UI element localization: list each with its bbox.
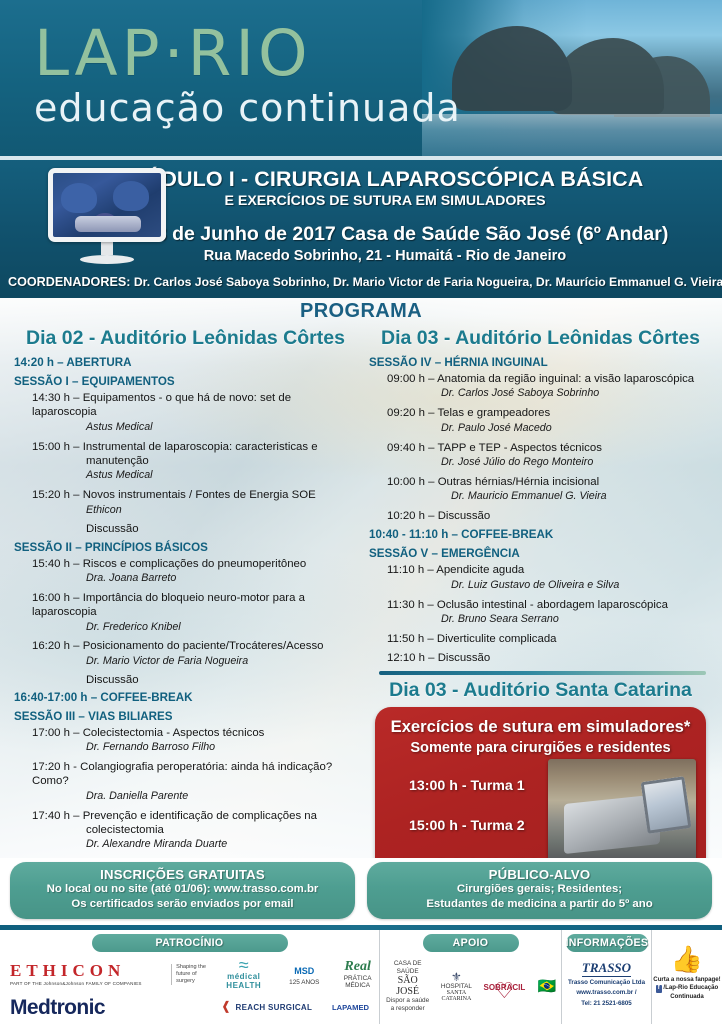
item-speaker: Astus Medical [32, 469, 357, 483]
item-time: 17:20 h - [32, 761, 77, 773]
item-time: 15:20 h – [32, 489, 80, 501]
session-heading: SESSÃO II – PRINCÍPIOS BÁSICOS [14, 541, 357, 554]
program-item: 11:50 h – Diverticulite complicada [369, 632, 712, 646]
facebook-page-name: /Lap-Rio Educação Continuada [663, 984, 718, 1000]
session-heading: SESSÃO III – VIAS BILIARES [14, 710, 357, 723]
registration-heading: INSCRIÇÕES GRATUITAS [18, 867, 347, 882]
day02-column: Dia 02 - Auditório Leônidas Côrtes 14:20… [6, 327, 361, 858]
casa-saude-sao-jose-logo: CASA DE SAÚDE SÃO JOSÉ Dispor a saúde a … [386, 960, 429, 1013]
day03-heading: Dia 03 - Auditório Leônidas Côrtes [369, 327, 712, 350]
brazil-flag-logo: 🇧🇷 [533, 977, 561, 996]
monitor-base [80, 255, 134, 264]
program-item: 11:10 h – Apendicite aguda Dr. Luiz Gust… [369, 563, 712, 592]
apoio-label: APOIO [423, 934, 519, 952]
item-speaker: Dr. José Júlio do Rego Monteiro [387, 456, 712, 470]
item-title: 09:40 h – TAPP e TEP - Aspectos técnicos [387, 441, 712, 455]
item-text: Posicionamento do paciente/Trocáteres/Ac… [83, 640, 324, 652]
item-time: 17:00 h – [32, 727, 80, 739]
day03-coffee-break: 10:40 - 11:10 h – COFFEE-BREAK [369, 528, 712, 541]
informacoes-column: INFORMAÇÕES TRASSO Trasso Comunicação Lt… [562, 930, 652, 1024]
coordinators-names: Dr. Carlos José Saboya Sobrinho, Dr. Mar… [134, 275, 722, 289]
item-title: 09:00 h – Anatomia da região inguinal: a… [387, 372, 712, 386]
item-time: 16:00 h – [32, 592, 80, 604]
item-speaker: Dra. Joana Barreto [32, 572, 357, 586]
redbox-subtitle: Somente para cirurgiões e residentes [387, 740, 694, 756]
item-speaker: Dr. Alexandre Miranda Duarte [32, 838, 357, 852]
medical-health-logo: ≈ médical HEALTH [215, 958, 272, 990]
coordinators-line: COORDENADORES: Dr. Carlos José Saboya So… [8, 275, 714, 289]
program-columns: Dia 02 - Auditório Leônidas Côrtes 14:20… [0, 323, 722, 858]
item-text: Instrumental de laparoscopia: caracteris… [83, 441, 318, 453]
item-text: Outras hérnias/Hérnia incisional [438, 476, 599, 488]
item-time: 16:20 h – [32, 640, 80, 652]
real-sub-text: PRÁTICA MÉDICA [336, 975, 379, 990]
trasso-company: Trasso Comunicação Ltda [562, 979, 651, 987]
item-text: Telas e grampeadores [437, 407, 550, 419]
item-speaker: Astus Medical [32, 421, 357, 435]
item-title: 17:00 h – Colecistectomia - Aspectos téc… [32, 726, 357, 740]
trasso-block: TRASSO Trasso Comunicação Ltda www.trass… [562, 959, 651, 1008]
day03-column: Dia 03 - Auditório Leônidas Côrtes SESSÃ… [361, 327, 716, 858]
msd-logo: MSD 125 ANOS [280, 961, 328, 987]
item-time: 15:00 h – [32, 441, 80, 453]
lapamed-text: LAPAMED [332, 1003, 369, 1012]
logo-sub-text: educação continuada [34, 89, 461, 127]
day03-santa-heading: Dia 03 - Auditório Santa Catarina [369, 679, 712, 702]
program-item: 11:30 h – Oclusão intestinal - abordagem… [369, 598, 712, 627]
program-item: 10:00 h – Outras hérnias/Hérnia incision… [369, 475, 712, 504]
program-body: PROGRAMA Dia 02 - Auditório Leônidas Côr… [0, 298, 722, 858]
item-title: 10:20 h – Discussão [387, 509, 712, 523]
item-speaker: Dr. Fernando Barroso Filho [32, 741, 357, 755]
registration-box[interactable]: INSCRIÇÕES GRATUITAS No local ou no site… [10, 862, 355, 919]
item-text-cont: colecistectomia [32, 823, 357, 837]
simulator-exercises-box: Exercícios de sutura em simuladores* Som… [375, 707, 706, 858]
wave-icon: ≈ [215, 958, 272, 972]
facebook-line2-wrap[interactable]: f /Lap-Rio Educação Continuada [652, 984, 722, 1001]
santa-catarina-logo: ⚜ HOSPITAL SANTA CATARINA [437, 971, 475, 1003]
item-text: Diverticulite complicada [437, 633, 557, 645]
item-title: 12:10 h – Discussão [387, 651, 712, 665]
item-time: 11:10 h – [387, 564, 434, 576]
program-item: 10:20 h – Discussão [369, 509, 712, 523]
session-heading: SESSÃO I – EQUIPAMENTOS [14, 375, 357, 388]
medical-health-text: médical HEALTH [215, 972, 272, 990]
program-item: 17:40 h – Prevenção e identificação de c… [14, 809, 357, 853]
item-speaker: Dr. Luiz Gustavo de Oliveira e Silva [387, 579, 712, 593]
facebook-line1: Curta a nossa fanpage! [652, 976, 722, 984]
item-text: Riscos e complicações do pneumoperitôneo [83, 558, 307, 570]
apoio-logos-row: CASA DE SAÚDE SÃO JOSÉ Dispor a saúde a … [380, 960, 561, 1013]
program-title: PROGRAMA [0, 298, 722, 323]
santa-divider [379, 671, 706, 675]
info-boxes: INSCRIÇÕES GRATUITAS No local ou no site… [0, 858, 722, 925]
item-text: Anatomia da região inguinal: a visão lap… [437, 373, 694, 385]
footer-sponsors: PATROCÍNIO ETHICON PART OF THE Johnson&J… [0, 930, 722, 1024]
item-text: Colecistectomia - Aspectos técnicos [83, 727, 265, 739]
item-time: 14:30 h – [32, 392, 80, 404]
item-text: TAPP e TEP - Aspectos técnicos [437, 442, 601, 454]
item-speaker: Dr. Mario Victor de Faria Nogueira [32, 655, 357, 669]
laprio-logo: LAP·RIO educação continuada [34, 22, 461, 127]
facebook-icon: f [656, 985, 662, 993]
item-title: 15:20 h – Novos instrumentais / Fontes d… [32, 488, 357, 502]
item-time: 11:50 h – [387, 633, 434, 645]
item-time: 10:00 h – [387, 476, 435, 488]
registration-line2: Os certificados serão enviados por email [18, 897, 347, 912]
item-time: 09:40 h – [387, 442, 435, 454]
banner-divider [0, 156, 722, 160]
item-speaker: Dr. Paulo José Macedo [387, 422, 712, 436]
reach-mark-icon: ❰ [221, 999, 231, 1013]
informacoes-label: INFORMAÇÕES [566, 934, 648, 952]
poster: LAP·RIO educação continuada MÓDULO I - C… [0, 0, 722, 1024]
ethicon-sublogo: PART OF THE Johnson&Johnson FAMILY OF CO… [10, 981, 163, 986]
item-title: 16:00 h – Importância do bloqueio neuro-… [32, 591, 357, 620]
item-title: 15:40 h – Riscos e complicações do pneum… [32, 557, 357, 571]
item-title: 16:20 h – Posicionamento do paciente/Tro… [32, 639, 357, 653]
program-item: 15:40 h – Riscos e complicações do pneum… [14, 557, 357, 586]
item-text: Discussão [438, 510, 491, 522]
monitor-screen [48, 168, 166, 242]
program-item: 17:20 h - Colangiografia peroperatória: … [14, 760, 357, 804]
trasso-site[interactable]: www.trasso.com.br / [562, 989, 651, 997]
program-item: 15:00 h – Instrumental de laparoscopia: … [14, 440, 357, 484]
item-title: 17:40 h – Prevenção e identificação de c… [32, 809, 357, 838]
day02-opening: 14:20 h – ABERTURA [14, 356, 357, 369]
facebook-block[interactable]: 👍 Curta a nossa fanpage! f /Lap-Rio Educ… [652, 946, 722, 1001]
real-logo: Real PRÁTICA MÉDICA [336, 959, 379, 990]
reach-surgical-logo: ❰ REACH SURGICAL [219, 997, 314, 1015]
item-speaker: Dr. Mauricio Emmanuel G. Vieira [387, 490, 712, 504]
item-speaker: Dra. Daniella Parente [32, 790, 357, 804]
session-discussion: Discussão [14, 674, 357, 686]
ethicon-tagline: Shaping the future of surgery [171, 964, 207, 985]
session-heading: SESSÃO V – EMERGÊNCIA [369, 547, 712, 560]
surgery-monitor-image [48, 168, 166, 264]
lapamed-logo: LAPAMED [322, 997, 379, 1015]
program-item: 14:30 h – Equipamentos - o que há de nov… [14, 391, 357, 435]
brazil-flag-icon: 🇧🇷 [538, 978, 557, 995]
item-time: 12:10 h – [387, 652, 435, 664]
audience-heading: PÚBLICO-ALVO [375, 867, 704, 882]
simulator-photo [548, 759, 696, 858]
item-speaker: Dr. Bruno Seara Serrano [387, 613, 712, 627]
csj-line1: CASA DE SAÚDE [386, 960, 429, 975]
program-item: 09:00 h – Anatomia da região inguinal: a… [369, 372, 712, 401]
msd-sub-text: 125 ANOS [280, 979, 328, 987]
item-time: 15:40 h – [32, 558, 80, 570]
patrocinio-label: PATROCÍNIO [92, 934, 288, 952]
item-title: 17:20 h - Colangiografia peroperatória: … [32, 760, 357, 789]
item-time: 09:00 h – [387, 373, 435, 385]
program-item: 17:00 h – Colecistectomia - Aspectos téc… [14, 726, 357, 755]
item-time: 10:20 h – [387, 510, 435, 522]
program-item: 16:20 h – Posicionamento do paciente/Tro… [14, 639, 357, 668]
session-heading: SESSÃO IV – HÉRNIA INGUINAL [369, 356, 712, 369]
sobracil-logo: ♡ SOBRACIL [483, 981, 525, 993]
rio-sugarloaf-photo [422, 0, 722, 160]
item-time: 17:40 h – [32, 810, 80, 822]
audience-box: PÚBLICO-ALVO Cirurgiões gerais; Resident… [367, 862, 712, 919]
sc-line2: SANTA CATARINA [437, 990, 475, 1002]
redbox-title: Exercícios de sutura em simuladores* [387, 717, 694, 737]
item-title: 09:20 h – Telas e grampeadores [387, 406, 712, 420]
program-item: 12:10 h – Discussão [369, 651, 712, 665]
facebook-column[interactable]: 👍 Curta a nossa fanpage! f /Lap-Rio Educ… [652, 930, 722, 1024]
coordinators-label: COORDENADORES: [8, 275, 130, 289]
logo-main-text: LAP·RIO [34, 22, 461, 85]
item-speaker: Ethicon [32, 504, 357, 518]
csj-line3: Dispor a saúde a responder [386, 997, 429, 1012]
real-text: Real [336, 959, 379, 975]
registration-line1: No local ou no site (até 01/06): www.tra… [18, 882, 347, 897]
item-title: 11:10 h – Apendicite aguda [387, 563, 712, 577]
item-text: Prevenção e identificação de complicaçõe… [83, 810, 317, 822]
item-title: 14:30 h – Equipamentos - o que há de nov… [32, 391, 357, 420]
banner: LAP·RIO educação continuada [0, 0, 722, 160]
item-title: 10:00 h – Outras hérnias/Hérnia incision… [387, 475, 712, 489]
audience-line2: Estudantes de medicina a partir do 5º an… [375, 897, 704, 912]
audience-line1: Cirurgiões gerais; Residentes; [375, 882, 704, 897]
item-title: 11:30 h – Oclusão intestinal - abordagem… [387, 598, 712, 612]
medtronic-logo: Medtronic [10, 996, 211, 1020]
item-text: Discussão [438, 652, 491, 664]
msd-text: MSD [294, 966, 314, 976]
item-text-cont: manutenção [32, 454, 357, 468]
monitor-stand [101, 242, 113, 255]
item-time: 09:20 h – [387, 407, 435, 419]
item-text: Apendicite aguda [436, 564, 524, 576]
item-speaker: Dr. Frederico Knibel [32, 621, 357, 635]
apoio-column: APOIO CASA DE SAÚDE SÃO JOSÉ Dispor a sa… [380, 930, 562, 1024]
sponsor-logos-row1: ETHICON PART OF THE Johnson&Johnson FAMI… [0, 958, 379, 990]
reach-text: REACH SURGICAL [236, 1003, 313, 1012]
csj-line2: SÃO JOSÉ [386, 975, 429, 997]
crest-icon: ⚜ [437, 971, 475, 983]
program-item: 09:40 h – TAPP e TEP - Aspectos técnicos… [369, 441, 712, 470]
item-title: 11:50 h – Diverticulite complicada [387, 632, 712, 646]
program-item: 09:20 h – Telas e grampeadores Dr. Paulo… [369, 406, 712, 435]
item-text: Novos instrumentais / Fontes de Energia … [83, 489, 316, 501]
sc-line1: HOSPITAL [437, 983, 475, 991]
trasso-phone: Tel: 21 2521-6805 [562, 1000, 651, 1008]
title-bar: MÓDULO I - CIRURGIA LAPAROSCÓPICA BÁSICA… [0, 160, 722, 298]
day02-coffee-break: 16:40-17:00 h – COFFEE-BREAK [14, 691, 357, 704]
item-text: Colangiografia peroperatória: ainda há i… [32, 761, 332, 787]
patrocinio-column: PATROCÍNIO ETHICON PART OF THE Johnson&J… [0, 930, 380, 1024]
ethicon-logo: ETHICON [10, 962, 163, 979]
day02-heading: Dia 02 - Auditório Leônidas Côrtes [14, 327, 357, 350]
trasso-logo: TRASSO [582, 960, 631, 977]
thumbs-up-icon: 👍 [652, 946, 722, 972]
sobracil-text: SOBRACIL [483, 983, 525, 992]
item-time: 11:30 h – [387, 599, 434, 611]
program-item: 15:20 h – Novos instrumentais / Fontes d… [14, 488, 357, 517]
program-item: 16:00 h – Importância do bloqueio neuro-… [14, 591, 357, 635]
item-speaker: Dr. Carlos José Saboya Sobrinho [387, 387, 712, 401]
session-discussion: Discussão [14, 523, 357, 535]
item-title: 15:00 h – Instrumental de laparoscopia: … [32, 440, 357, 469]
sponsor-logos-row2: Medtronic ❰ REACH SURGICAL LAPAMED [0, 992, 379, 1020]
item-text: Oclusão intestinal - abordagem laparoscó… [437, 599, 668, 611]
